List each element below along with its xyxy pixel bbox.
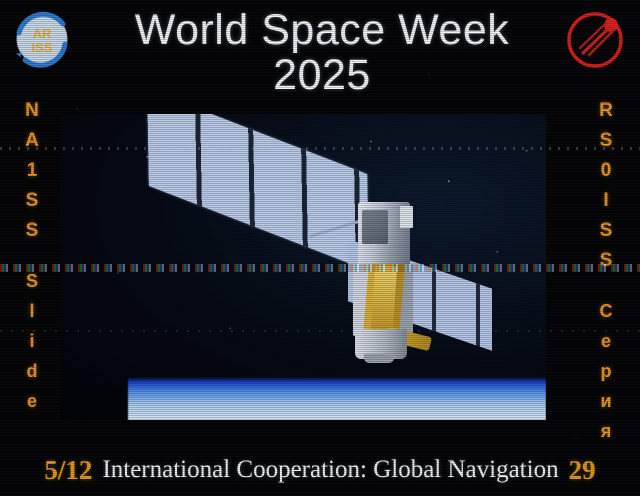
right-callsign-char-3: I: [588, 186, 624, 216]
left-vertical-text: N A 1 S S S l i d e: [14, 96, 50, 416]
right-callsign-char-2: 0: [588, 156, 624, 186]
right-callsign-char-4: S: [588, 216, 624, 246]
satellite-illustration: [60, 114, 546, 420]
right-text-gap: [588, 276, 624, 296]
rs0iss-comet-logo: [563, 7, 627, 71]
left-label-char-2: i: [14, 326, 50, 356]
svg-text:ISS: ISS: [32, 40, 53, 55]
slide-number: 5/12: [44, 455, 92, 486]
satellite-antenna-panel: [362, 210, 388, 244]
engine-nozzle: [364, 354, 394, 363]
right-label-char-1: е: [588, 326, 624, 356]
left-callsign-char-3: S: [14, 186, 50, 216]
right-label-char-2: р: [588, 356, 624, 386]
caption-text: International Cooperation: Global Naviga…: [102, 456, 558, 484]
satellite-photo: [60, 114, 546, 420]
right-vertical-text: R S 0 I S S С е р и я: [588, 96, 624, 446]
right-callsign-char-0: R: [588, 96, 624, 126]
caption-bar: 5/12 International Cooperation: Global N…: [0, 450, 640, 490]
left-label-char-4: e: [14, 386, 50, 416]
svg-text:AR: AR: [33, 26, 52, 41]
right-callsign-char-5: S: [588, 246, 624, 276]
left-callsign-char-4: S: [14, 216, 50, 246]
left-label-char-1: l: [14, 296, 50, 326]
left-label-char-0: S: [14, 266, 50, 296]
left-text-gap: [14, 246, 50, 266]
left-label-char-3: d: [14, 356, 50, 386]
left-callsign-char-0: N: [14, 96, 50, 126]
ariss-logo: AR ISS: [11, 8, 73, 70]
title-line-1: World Space Week: [135, 6, 509, 54]
series-number: 29: [569, 455, 596, 486]
right-label-char-4: я: [588, 416, 624, 446]
sstv-image-frame: AR ISS World Space Week 2025 N A 1 S S S…: [0, 0, 640, 496]
earth-limb: [128, 377, 546, 420]
left-callsign-char-1: A: [14, 126, 50, 156]
right-label-char-3: и: [588, 386, 624, 416]
title: World Space Week 2025: [96, 8, 548, 98]
title-line-2: 2025: [96, 53, 548, 98]
satellite-side-tab: [400, 206, 413, 228]
right-callsign-char-1: S: [588, 126, 624, 156]
left-callsign-char-2: 1: [14, 156, 50, 186]
right-label-char-0: С: [588, 296, 624, 326]
solar-panel-left: [147, 114, 369, 271]
